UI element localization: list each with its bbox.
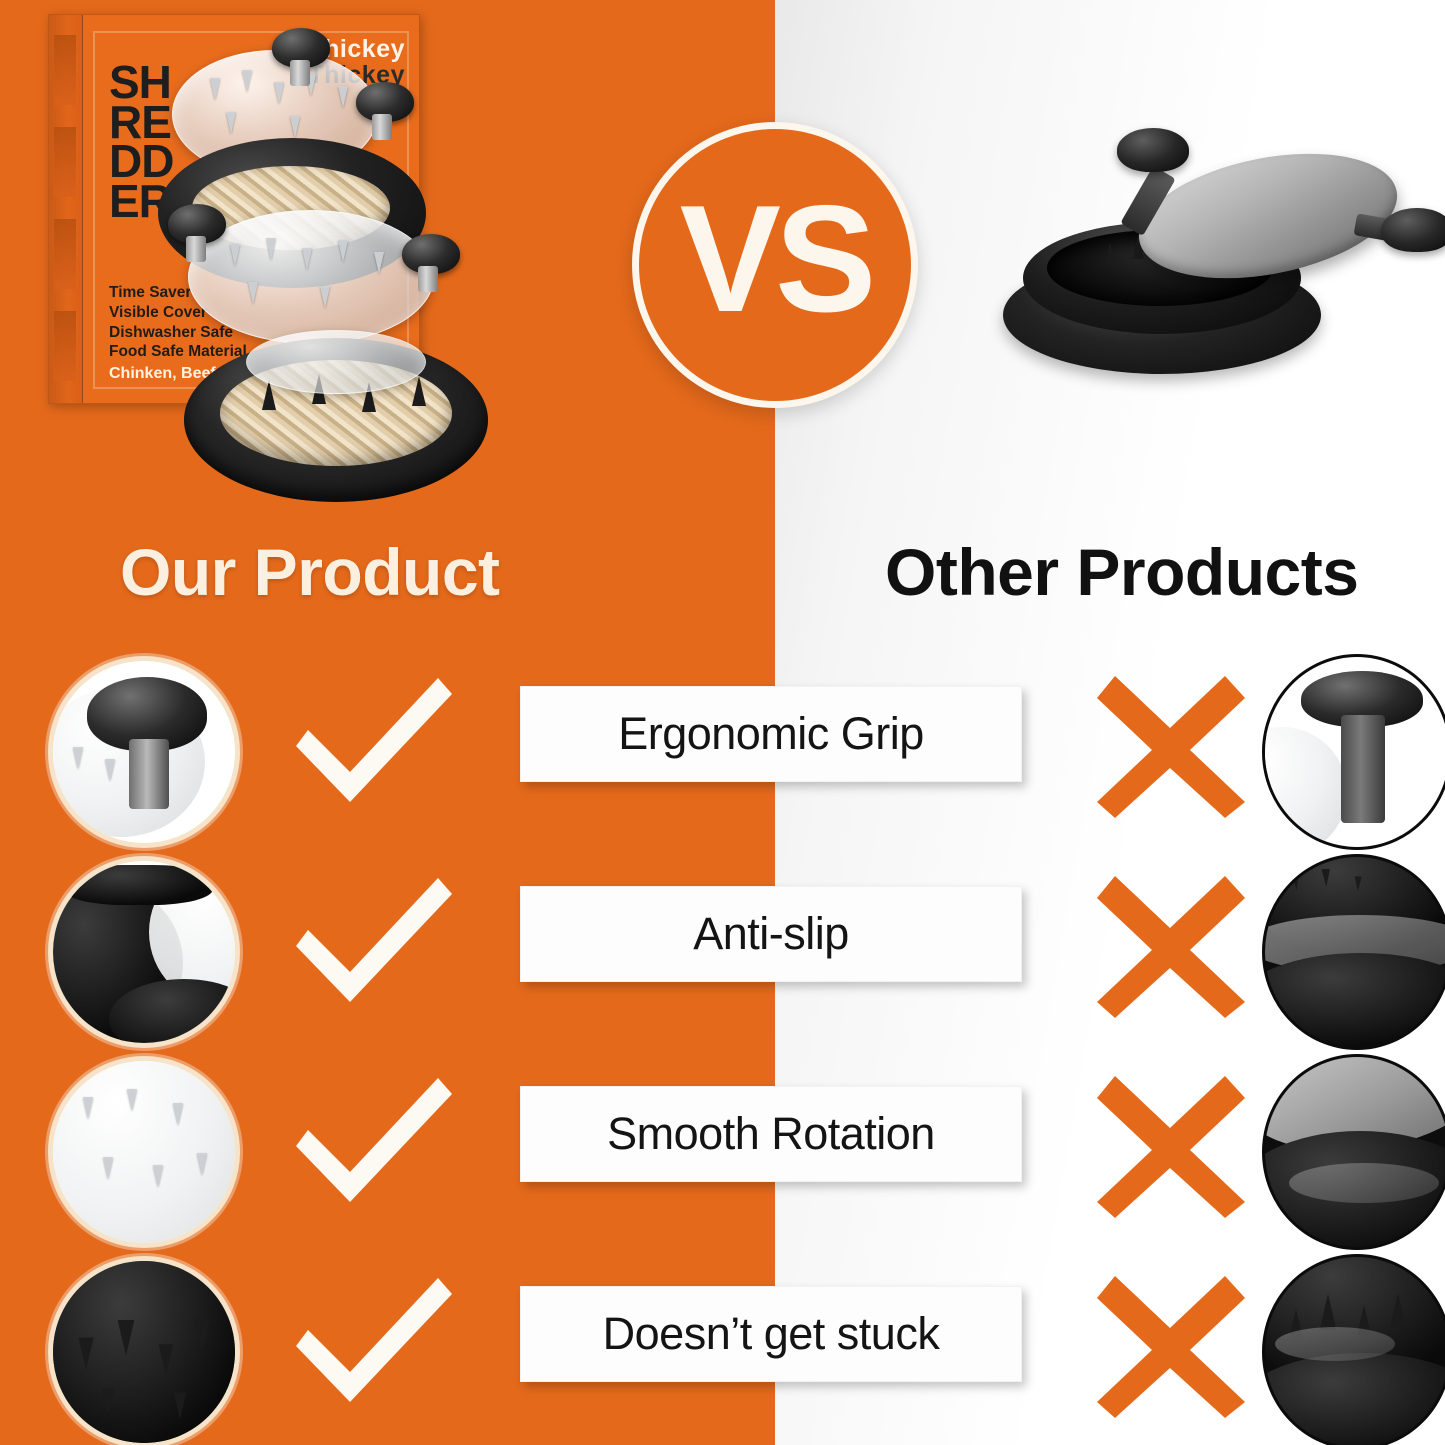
package-title: SH RE DD ER xyxy=(109,63,173,221)
package-feature-1: Time Saver xyxy=(109,283,247,303)
product-package-box: Chickey Thickey SH RE DD ER Time Saver V… xyxy=(48,14,420,404)
competitor-product-photo xyxy=(985,110,1415,400)
comparison-rows: Ergonomic Grip Anti-s xyxy=(0,640,1445,1440)
x-icon xyxy=(1095,868,1245,1018)
ours-thumbnail-doesnt-get-stuck[interactable] xyxy=(48,1256,240,1445)
package-meats-line: Chinken, Beef, Meat, Pork xyxy=(109,365,306,383)
other-products-heading: Other Products xyxy=(885,534,1445,610)
others-thumbnail-anti-slip[interactable] xyxy=(1262,854,1445,1050)
vs-label: VS xyxy=(680,183,871,335)
x-icon xyxy=(1095,1068,1245,1218)
others-thumbnail-smooth-rotation[interactable] xyxy=(1262,1054,1445,1250)
package-feature-2: Visible Cover xyxy=(109,303,247,323)
ours-thumbnail-ergonomic-grip[interactable] xyxy=(48,656,240,848)
others-thumbnail-doesnt-get-stuck[interactable] xyxy=(1262,1254,1445,1445)
infographic-stage: Chickey Thickey SH RE DD ER Time Saver V… xyxy=(0,0,1445,1445)
table-row: Anti-slip xyxy=(0,840,1445,1040)
x-icon xyxy=(1095,668,1245,818)
feature-label-smooth-rotation: Smooth Rotation xyxy=(520,1086,1022,1182)
feature-label-ergonomic-grip: Ergonomic Grip xyxy=(520,686,1022,782)
feature-label-doesnt-get-stuck: Doesn’t get stuck xyxy=(520,1286,1022,1382)
others-thumbnail-ergonomic-grip[interactable] xyxy=(1262,654,1445,850)
feature-label-text: Anti-slip xyxy=(693,908,849,960)
package-spine xyxy=(49,15,83,403)
ours-thumbnail-anti-slip[interactable] xyxy=(48,856,240,1048)
package-title-line-4: ER xyxy=(109,182,173,222)
check-icon xyxy=(288,668,458,818)
feature-label-text: Smooth Rotation xyxy=(607,1108,935,1160)
vs-badge: VS xyxy=(632,122,918,408)
check-icon xyxy=(288,1268,458,1418)
check-icon xyxy=(288,1068,458,1218)
feature-label-text: Doesn’t get stuck xyxy=(603,1308,940,1360)
feature-label-text: Ergonomic Grip xyxy=(618,708,924,760)
brand-line-2: Thickey xyxy=(306,63,405,89)
ours-thumbnail-smooth-rotation[interactable] xyxy=(48,1056,240,1248)
x-icon xyxy=(1095,1268,1245,1418)
package-feature-list: Time Saver Visible Cover Dishwasher Safe… xyxy=(109,283,247,362)
feature-label-anti-slip: Anti-slip xyxy=(520,886,1022,982)
our-product-heading: Our Product xyxy=(120,534,640,610)
package-brand: Chickey Thickey xyxy=(306,37,405,88)
table-row: Doesn’t get stuck xyxy=(0,1240,1445,1440)
package-feature-4: Food Safe Material xyxy=(109,342,247,362)
brand-line-1: Chickey xyxy=(306,37,405,63)
table-row: Ergonomic Grip xyxy=(0,640,1445,840)
table-row: Smooth Rotation xyxy=(0,1040,1445,1240)
check-icon xyxy=(288,868,458,1018)
package-feature-3: Dishwasher Safe xyxy=(109,323,247,343)
